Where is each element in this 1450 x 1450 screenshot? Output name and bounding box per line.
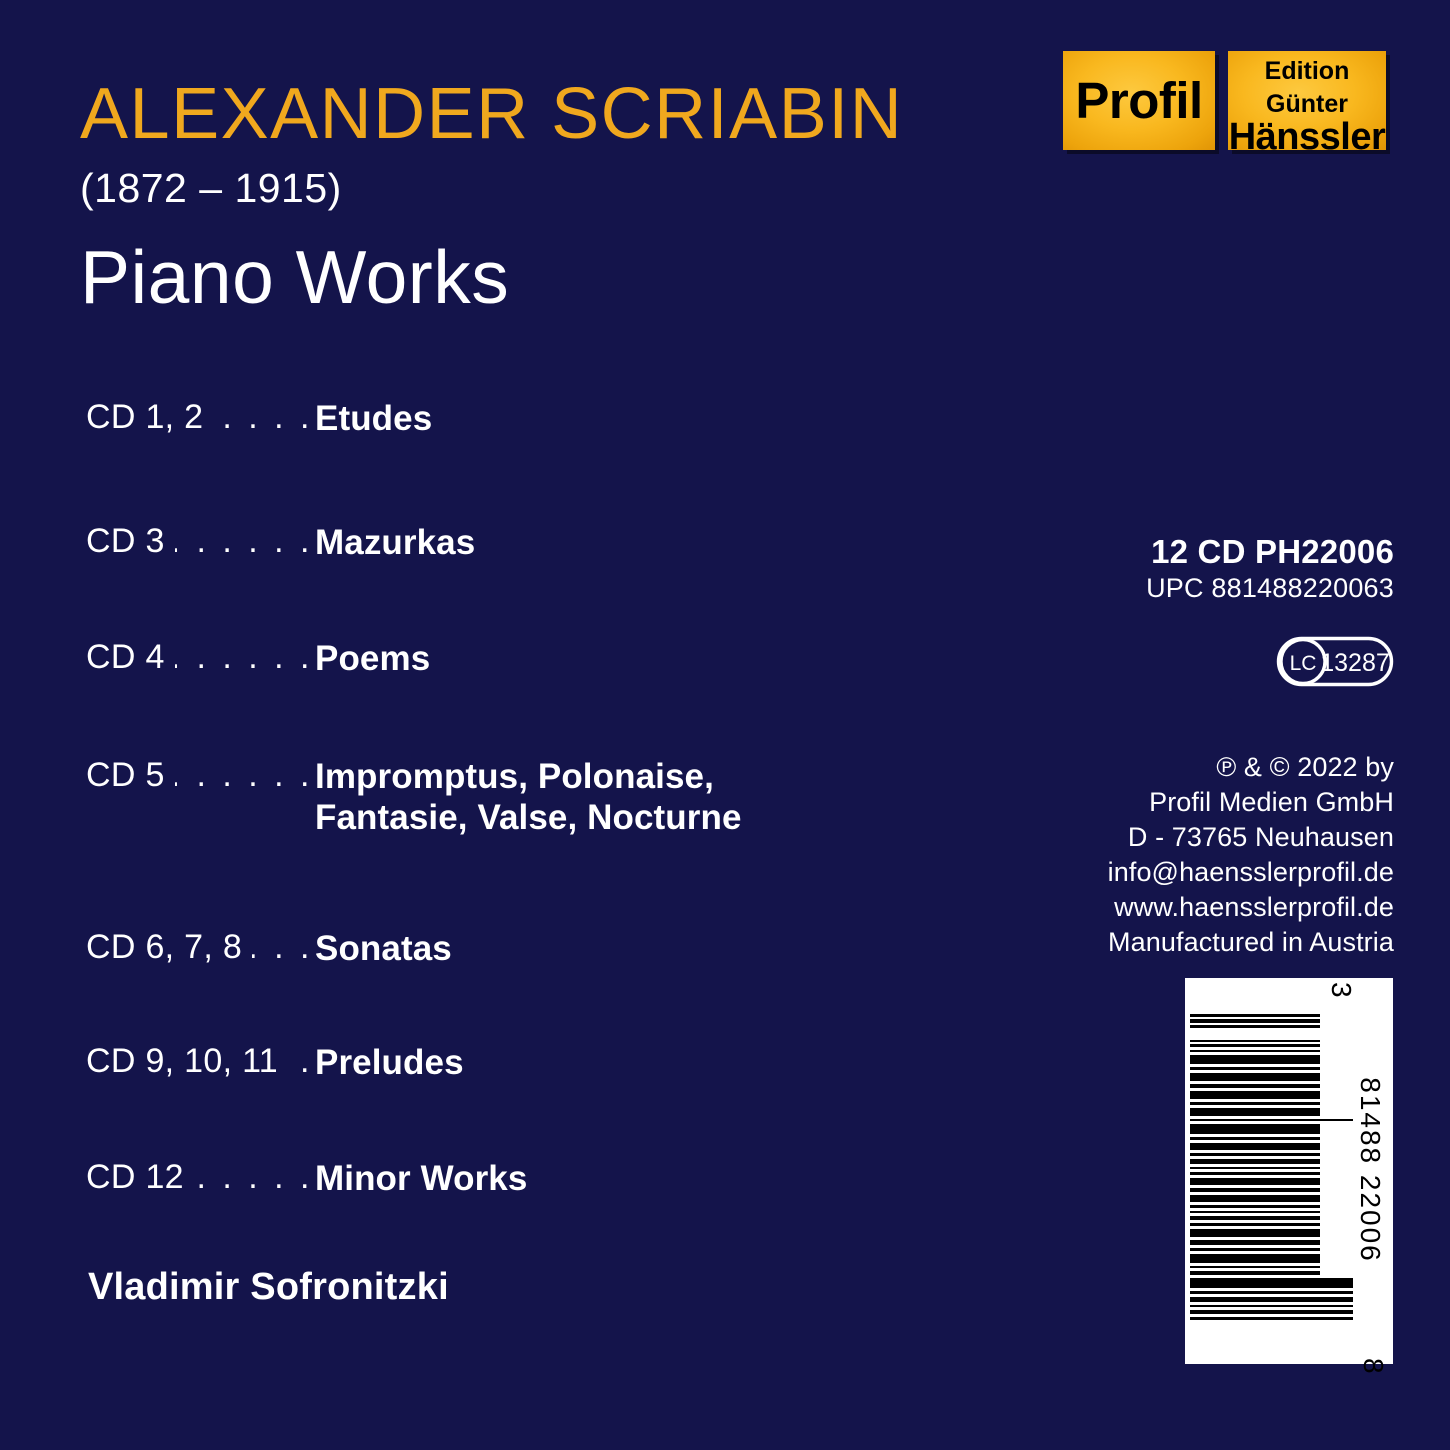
barcode-bar <box>1190 1055 1320 1064</box>
copyright-info: ℗ & © 2022 by Profil Medien GmbH D - 737… <box>1108 750 1394 961</box>
tracklist-disc-label-wrap: CD 4. . . . . . . . . <box>86 638 313 677</box>
tracklist-disc-label-wrap: CD 3. . . . . . . . . . <box>86 522 313 561</box>
tracklist-disc-label-wrap: CD 12. . . . . . . . . <box>86 1158 313 1197</box>
tracklist-disc-label: CD 5 <box>86 756 165 795</box>
upc-number: UPC 881488220063 <box>1146 571 1394 606</box>
barcode-bar <box>1190 1172 1320 1175</box>
tracklist-row: CD 12. . . . . . . . .Minor Works <box>86 1158 986 1199</box>
tracklist-disc-label-wrap: CD 5. . . . . . . . . <box>86 756 313 795</box>
copyright-line-3: D - 73765 Neuhausen <box>1108 820 1394 855</box>
barcode-bar <box>1190 1091 1320 1099</box>
barcode-bar <box>1190 1137 1320 1140</box>
composer-dates: (1872 – 1915) <box>80 168 342 209</box>
barcode-bar <box>1190 1025 1320 1028</box>
tracklist-disc-label-wrap: CD 9, 10, 11. . . . <box>86 1042 313 1081</box>
barcode-bar <box>1190 1102 1320 1105</box>
copyright-website: www.haensslerprofil.de <box>1108 890 1394 925</box>
barcode-bar <box>1190 1143 1320 1150</box>
copyright-line-2: Profil Medien GmbH <box>1108 785 1394 820</box>
barcode-bar <box>1190 1229 1320 1237</box>
lc-number-text: 13287 <box>1320 649 1390 677</box>
tracklist-dot-leader: . . . . . . . . . <box>194 1158 313 1197</box>
barcode-bar <box>1190 1188 1320 1192</box>
tracklist-dot-leader: . . . . . . <box>252 928 313 967</box>
tracklist-dot-leader: . . . . . . . . . <box>175 756 313 795</box>
tracklist-works-title: Etudes <box>313 398 432 439</box>
barcode-bar <box>1190 1291 1353 1294</box>
barcode: 81488 22006 8 3 <box>1185 978 1393 1364</box>
barcode-bar <box>1190 1216 1320 1220</box>
performer-name: Vladimir Sofronitzki <box>88 1266 449 1309</box>
barcode-bar <box>1190 1195 1320 1202</box>
profil-logo-box: Profil <box>1063 51 1215 150</box>
tracklist-disc-label: CD 6, 7, 8 <box>86 928 242 967</box>
copyright-line-1: ℗ & © 2022 by <box>1108 750 1394 785</box>
edition-guenter-haenssler-logo-box: Edition Günter Hänssler <box>1228 51 1386 150</box>
barcode-bar <box>1190 1167 1320 1169</box>
barcode-bar <box>1190 1050 1320 1052</box>
label-logo: Profil Edition Günter Hänssler <box>1063 51 1386 150</box>
tracklist-row: CD 6, 7, 8. . . . . .Sonatas <box>86 928 986 969</box>
tracklist-dot-leader: . . . . <box>288 1042 313 1081</box>
composer-name: ALEXANDER SCRIABIN <box>80 78 903 150</box>
barcode-bar <box>1190 1317 1353 1320</box>
barcode-bar <box>1190 1205 1320 1208</box>
tracklist-works-title: Sonatas <box>313 928 452 969</box>
tracklist: CD 1, 2. . . . . . . .EtudesCD 3. . . . … <box>86 398 986 1218</box>
catalog-info: 12 CD PH22006 UPC 881488220063 <box>1146 533 1394 606</box>
tracklist-disc-label-wrap: CD 1, 2. . . . . . . . <box>86 398 313 437</box>
barcode-bar <box>1190 1271 1320 1275</box>
barcode-bar <box>1190 1266 1320 1268</box>
barcode-bar <box>1190 1019 1320 1023</box>
tracklist-dot-leader: . . . . . . . . . <box>175 638 313 677</box>
tracklist-works-title: Impromptus, Polonaise, Fantasie, Valse, … <box>313 756 875 839</box>
tracklist-row: CD 3. . . . . . . . . .Mazurkas <box>86 522 986 563</box>
tracklist-disc-label: CD 1, 2 <box>86 398 203 437</box>
barcode-bar <box>1190 1297 1353 1302</box>
barcode-middle-digits: 81488 22006 <box>1353 1014 1387 1326</box>
barcode-bar <box>1190 1153 1320 1156</box>
barcode-bar <box>1190 1044 1320 1047</box>
barcode-bar <box>1190 1014 1320 1017</box>
tracklist-works-title: Poems <box>313 638 430 679</box>
barcode-bar <box>1190 1240 1320 1245</box>
barcode-bar <box>1190 1305 1353 1307</box>
edition-label: Edition <box>1265 59 1350 84</box>
tracklist-disc-label: CD 12 <box>86 1158 184 1197</box>
lc-label-text: LC <box>1290 652 1317 675</box>
tracklist-row: CD 9, 10, 11. . . .Preludes <box>86 1042 986 1083</box>
barcode-bar <box>1190 1108 1320 1116</box>
barcode-bar <box>1190 1073 1320 1081</box>
tracklist-disc-label: CD 4 <box>86 638 165 677</box>
tracklist-row: CD 4. . . . . . . . .Poems <box>86 638 986 679</box>
cd-back-cover: ALEXANDER SCRIABIN (1872 – 1915) Piano W… <box>0 0 1450 1450</box>
tracklist-disc-label: CD 9, 10, 11 <box>86 1042 278 1081</box>
tracklist-row: CD 5. . . . . . . . .Impromptus, Polonai… <box>86 756 986 839</box>
barcode-bar <box>1190 1248 1320 1251</box>
barcode-bar <box>1190 1254 1320 1263</box>
guenter-label: Günter <box>1266 92 1348 117</box>
barcode-last-digit: 3 <box>1325 982 1357 998</box>
barcode-bars <box>1190 1014 1353 1326</box>
barcode-first-digit: 8 <box>1357 1358 1389 1374</box>
copyright-email: info@haensslerprofil.de <box>1108 855 1394 890</box>
catalog-number: 12 CD PH22006 <box>1146 533 1394 571</box>
album-title: Piano Works <box>80 240 509 315</box>
barcode-bar <box>1190 1119 1353 1121</box>
barcode-bar <box>1190 1211 1320 1213</box>
barcode-bar <box>1190 1040 1320 1042</box>
lc-code-logo: LC 13287 <box>1276 636 1394 687</box>
tracklist-works-title: Minor Works <box>313 1158 527 1199</box>
copyright-manufactured: Manufactured in Austria <box>1108 925 1394 960</box>
tracklist-disc-label: CD 3 <box>86 522 165 561</box>
barcode-bar <box>1190 1223 1320 1226</box>
barcode-bar <box>1190 1278 1353 1288</box>
tracklist-dot-leader: . . . . . . . . <box>213 398 313 437</box>
barcode-bar <box>1190 1124 1320 1134</box>
barcode-bar <box>1190 1310 1353 1314</box>
profil-logo-text: Profil <box>1075 75 1202 126</box>
tracklist-disc-label-wrap: CD 6, 7, 8. . . . . . <box>86 928 313 967</box>
barcode-bar <box>1190 1178 1320 1185</box>
tracklist-works-title: Mazurkas <box>313 522 475 563</box>
tracklist-row: CD 1, 2. . . . . . . .Etudes <box>86 398 986 439</box>
barcode-bar <box>1190 1067 1320 1070</box>
barcode-bar <box>1190 1084 1320 1088</box>
tracklist-works-title: Preludes <box>313 1042 464 1083</box>
tracklist-dot-leader: . . . . . . . . . . <box>175 522 313 561</box>
haenssler-label: Hänssler <box>1229 118 1386 156</box>
barcode-bar <box>1190 1159 1320 1164</box>
